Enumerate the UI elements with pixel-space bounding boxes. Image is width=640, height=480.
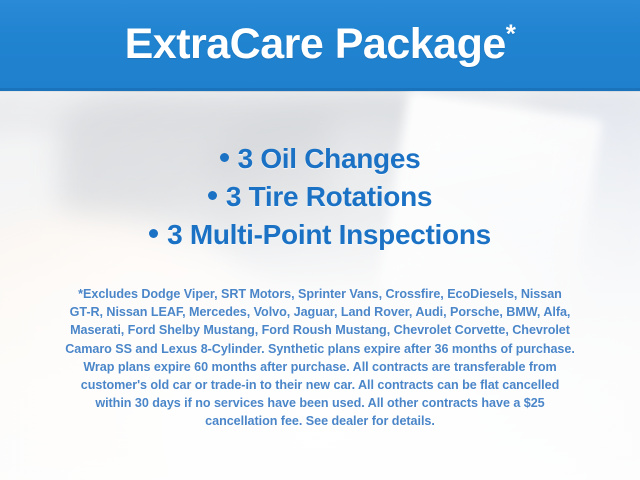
- page-title: ExtraCare Package*: [125, 23, 516, 68]
- benefit-label: 3 Tire Rotations: [226, 181, 432, 212]
- benefits-list: 3 Oil Changes 3 Tire Rotations 3 Multi-P…: [0, 140, 640, 254]
- header-banner: ExtraCare Package*: [0, 0, 640, 91]
- page-title-asterisk: *: [506, 19, 516, 49]
- disclaimer-line: cancellation fee. See dealer for details…: [18, 412, 622, 430]
- page-title-text: ExtraCare Package: [125, 20, 506, 68]
- disclaimer-line: Maserati, Ford Shelby Mustang, Ford Rous…: [18, 321, 622, 339]
- disclaimer-line: Wrap plans expire 60 months after purcha…: [18, 358, 622, 376]
- benefit-label: 3 Oil Changes: [238, 143, 421, 174]
- disclaimer-line: *Excludes Dodge Viper, SRT Motors, Sprin…: [18, 285, 622, 303]
- list-item: 3 Multi-Point Inspections: [0, 216, 640, 254]
- benefit-label: 3 Multi-Point Inspections: [167, 219, 491, 250]
- disclaimer-line: Camaro SS and Lexus 8-Cylinder. Syntheti…: [18, 340, 622, 358]
- list-item: 3 Tire Rotations: [0, 178, 640, 216]
- bullet-dot-icon: [208, 191, 217, 200]
- disclaimer-text: *Excludes Dodge Viper, SRT Motors, Sprin…: [18, 285, 622, 431]
- disclaimer-line: GT-R, Nissan LEAF, Mercedes, Volvo, Jagu…: [18, 303, 622, 321]
- extracare-package-ad: ExtraCare Package* 3 Oil Changes 3 Tire …: [0, 0, 640, 480]
- disclaimer-line: customer's old car or trade-in to their …: [18, 376, 622, 394]
- bullet-dot-icon: [149, 229, 158, 238]
- list-item: 3 Oil Changes: [0, 140, 640, 178]
- bullet-dot-icon: [220, 153, 229, 162]
- disclaimer-line: within 30 days if no services have been …: [18, 394, 622, 412]
